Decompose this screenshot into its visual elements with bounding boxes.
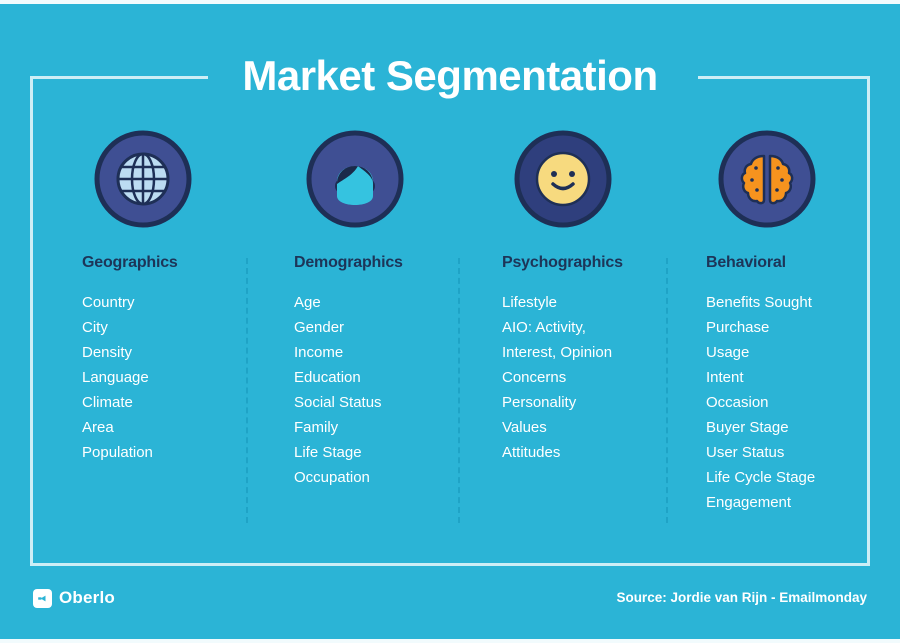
page-title: Market Segmentation — [0, 50, 900, 102]
list-item: Occasion — [706, 390, 870, 415]
list-item: Interest, Opinion — [502, 340, 666, 365]
list-item: Engagement — [706, 490, 870, 515]
brain-icon — [718, 130, 816, 228]
list-item: Country — [82, 290, 246, 315]
list-item: Income — [294, 340, 458, 365]
list-item: Intent — [706, 365, 870, 390]
column-heading: Behavioral — [706, 254, 870, 272]
column-heading: Demographics — [294, 254, 458, 272]
source-credit: Source: Jordie van Rijn - Emailmonday — [616, 590, 867, 605]
list-item: Buyer Stage — [706, 415, 870, 440]
segment-columns: Geographics Country City Density Languag… — [30, 130, 870, 530]
list-item: Family — [294, 415, 458, 440]
segment-column-psychographics: Psychographics Lifestyle AIO: Activity, … — [458, 130, 666, 530]
list-item: Gender — [294, 315, 458, 340]
list-item: Language — [82, 365, 246, 390]
list-item: Usage — [706, 340, 870, 365]
oberlo-logo-mark-icon — [33, 589, 52, 608]
list-item: Lifestyle — [502, 290, 666, 315]
list-item: Life Stage — [294, 440, 458, 465]
list-item: AIO: Activity, — [502, 315, 666, 340]
smiley-face-icon — [514, 130, 612, 228]
market-segmentation-infographic: Market Segmentation Geographics Country … — [0, 0, 900, 643]
list-item: Education — [294, 365, 458, 390]
list-item: Climate — [82, 390, 246, 415]
segment-list-geographics: Country City Density Language Climate Ar… — [82, 290, 246, 465]
list-item: Attitudes — [502, 440, 666, 465]
segment-list-psychographics: Lifestyle AIO: Activity, Interest, Opini… — [502, 290, 666, 465]
footer: Oberlo Source: Jordie van Rijn - Emailmo… — [0, 568, 900, 643]
list-item: Occupation — [294, 465, 458, 490]
segment-column-geographics: Geographics Country City Density Languag… — [30, 130, 246, 530]
oberlo-logo-text: Oberlo — [59, 588, 115, 608]
globe-icon — [94, 130, 192, 228]
segment-column-demographics: Demographics Age Gender Income Education… — [246, 130, 458, 530]
list-item: Area — [82, 415, 246, 440]
bottom-edge-strip — [0, 639, 900, 643]
list-item: City — [82, 315, 246, 340]
list-item: Population — [82, 440, 246, 465]
list-item: Life Cycle Stage — [706, 465, 870, 490]
list-item: Concerns — [502, 365, 666, 390]
list-item: Benefits Sought — [706, 290, 870, 315]
list-item: Age — [294, 290, 458, 315]
person-icon — [306, 130, 404, 228]
list-item: Social Status — [294, 390, 458, 415]
list-item: Density — [82, 340, 246, 365]
segment-list-demographics: Age Gender Income Education Social Statu… — [294, 290, 458, 490]
top-edge-strip — [0, 0, 900, 4]
segment-list-behavioral: Benefits Sought Purchase Usage Intent Oc… — [706, 290, 870, 515]
list-item: Purchase — [706, 315, 870, 340]
list-item: User Status — [706, 440, 870, 465]
oberlo-logo: Oberlo — [33, 588, 115, 608]
list-item: Values — [502, 415, 666, 440]
column-heading: Geographics — [82, 254, 246, 272]
column-heading: Psychographics — [502, 254, 666, 272]
list-item: Personality — [502, 390, 666, 415]
segment-column-behavioral: Behavioral Benefits Sought Purchase Usag… — [666, 130, 870, 530]
